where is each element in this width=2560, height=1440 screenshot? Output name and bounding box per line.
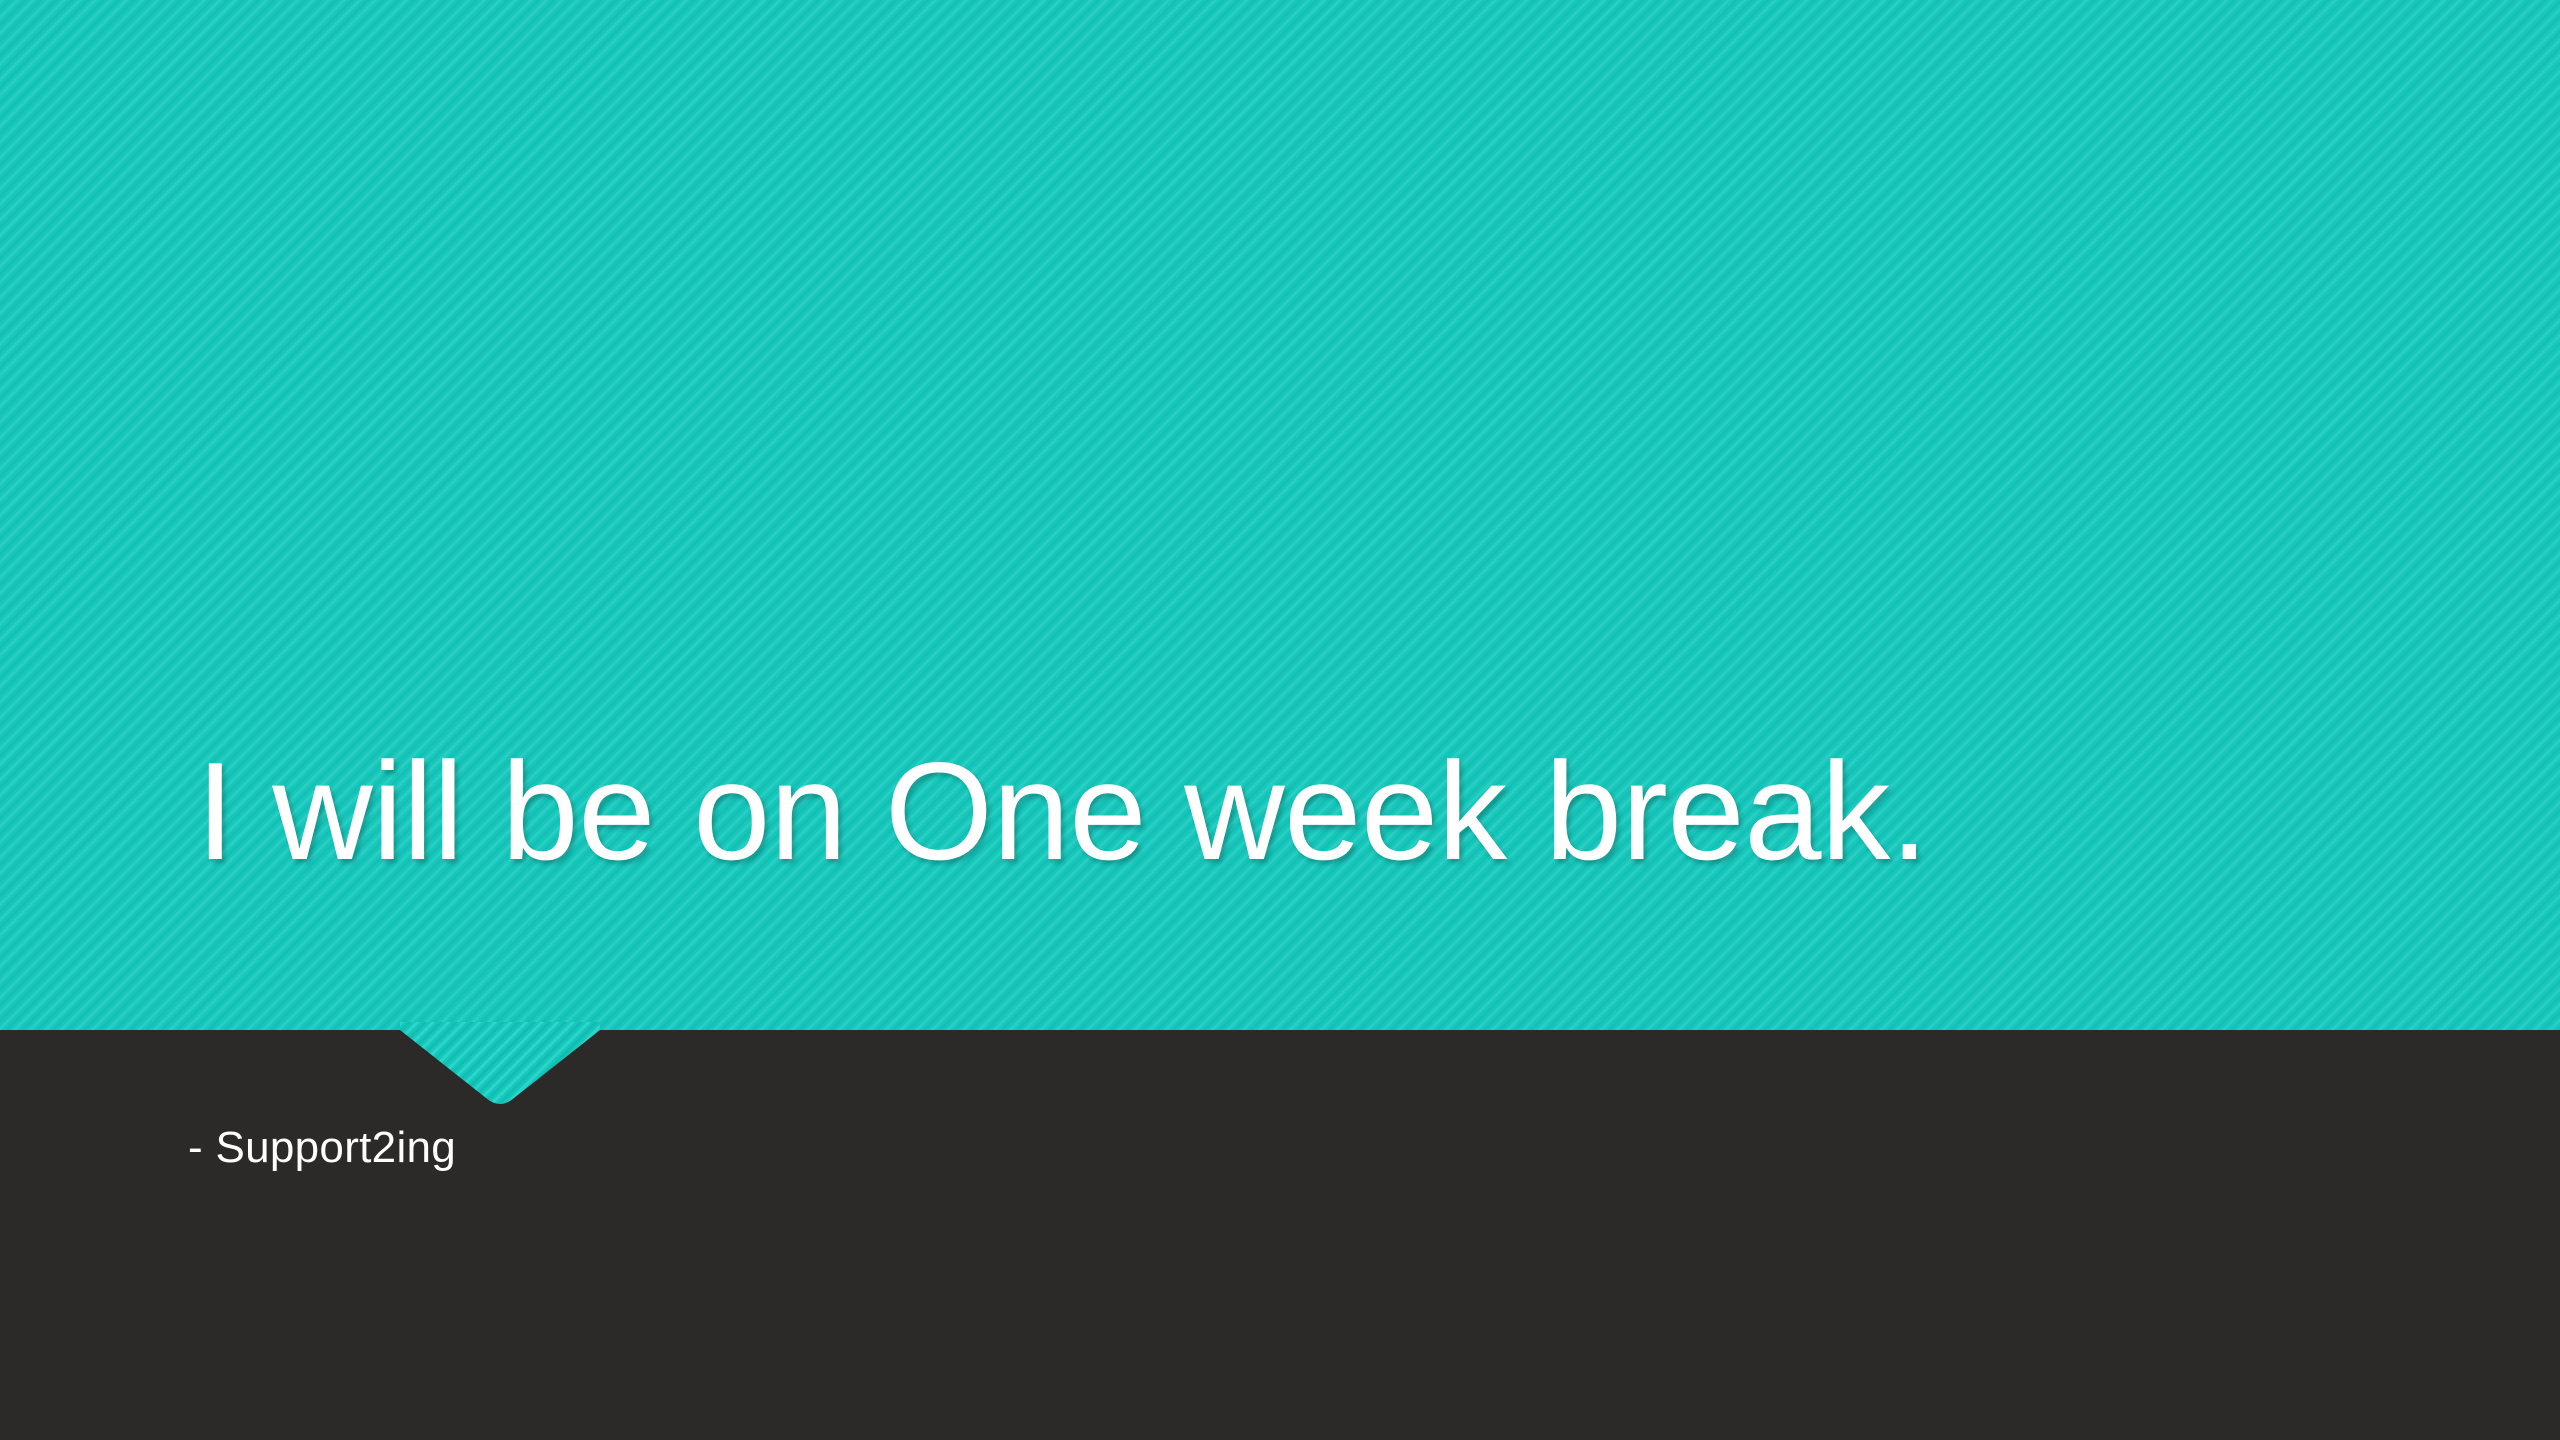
- subtitle-block: - Support2ing: [188, 1126, 1588, 1170]
- slide-subtitle: - Support2ing: [188, 1126, 1588, 1170]
- title-block: I will be on One week break.: [196, 742, 2396, 881]
- slide-canvas: I will be on One week break. - Support2i…: [0, 0, 2560, 1440]
- dark-footer-band: [0, 1030, 2560, 1440]
- slide-title: I will be on One week break.: [196, 742, 2396, 881]
